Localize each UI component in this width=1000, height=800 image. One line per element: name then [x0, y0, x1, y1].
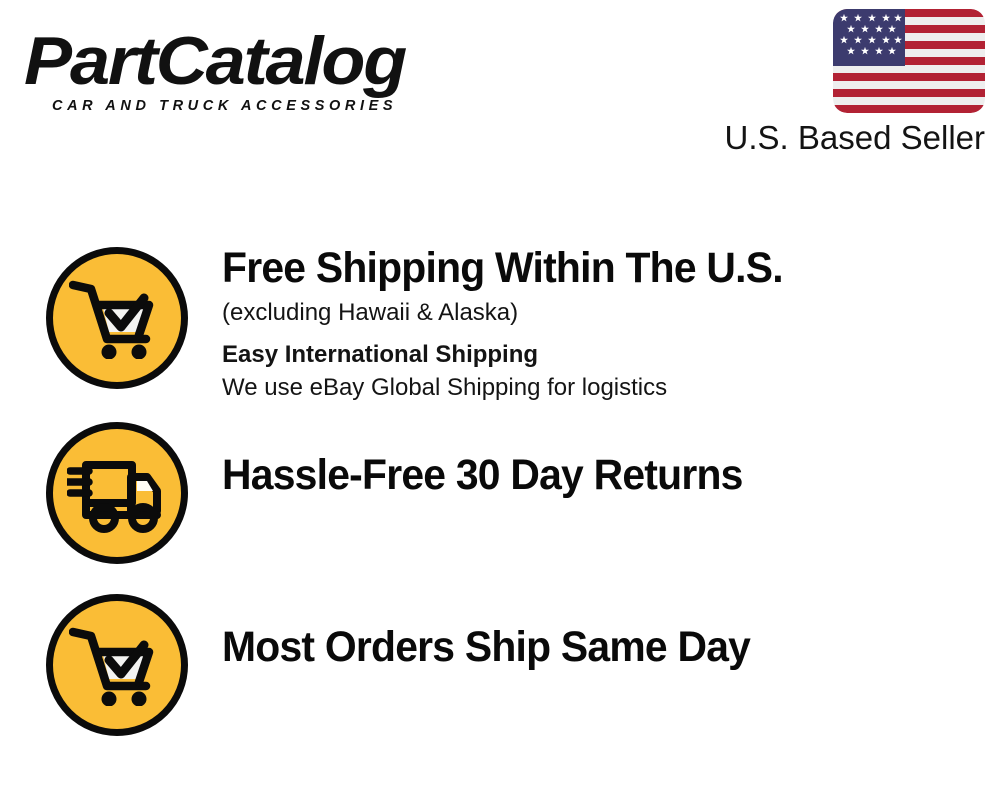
feature-title: Free Shipping Within The U.S.	[222, 243, 954, 293]
feature-row: Free Shipping Within The U.S. (excluding…	[0, 243, 1000, 393]
truck-glyph	[67, 453, 167, 533]
cart-check-glyph	[69, 277, 165, 359]
feature-text-block: Hassle-Free 30 Day Returns	[222, 450, 992, 500]
delivery-truck-icon	[46, 422, 188, 564]
feature-row: Hassle-Free 30 Day Returns	[0, 418, 1000, 568]
brand-wordmark: PartCatalog	[24, 26, 522, 96]
feature-note: (excluding Hawaii & Alaska)	[222, 297, 992, 329]
feature-text-block: Free Shipping Within The U.S. (excluding…	[222, 243, 992, 404]
feature-text-block: Most Orders Ship Same Day	[222, 622, 992, 672]
feature-title: Most Orders Ship Same Day	[222, 622, 954, 672]
shopping-cart-check-icon	[46, 594, 188, 736]
feature-detail: We use eBay Global Shipping for logistic…	[222, 372, 992, 404]
header: PartCatalog CAR AND TRUCK ACCESSORIES	[0, 0, 1000, 175]
shopping-cart-check-icon	[46, 247, 188, 389]
brand-tagline: CAR AND TRUCK ACCESSORIES	[52, 98, 494, 114]
us-based-seller-label: U.S. Based Seller	[565, 118, 985, 158]
brand-logo[interactable]: PartCatalog CAR AND TRUCK ACCESSORIES	[24, 26, 494, 114]
us-flag	[833, 9, 985, 113]
feature-title: Hassle-Free 30 Day Returns	[222, 450, 954, 500]
feature-row: Most Orders Ship Same Day	[0, 590, 1000, 740]
feature-subtitle: Easy International Shipping	[222, 339, 992, 371]
cart-check-glyph	[69, 624, 165, 706]
us-flag-icon	[833, 9, 985, 113]
